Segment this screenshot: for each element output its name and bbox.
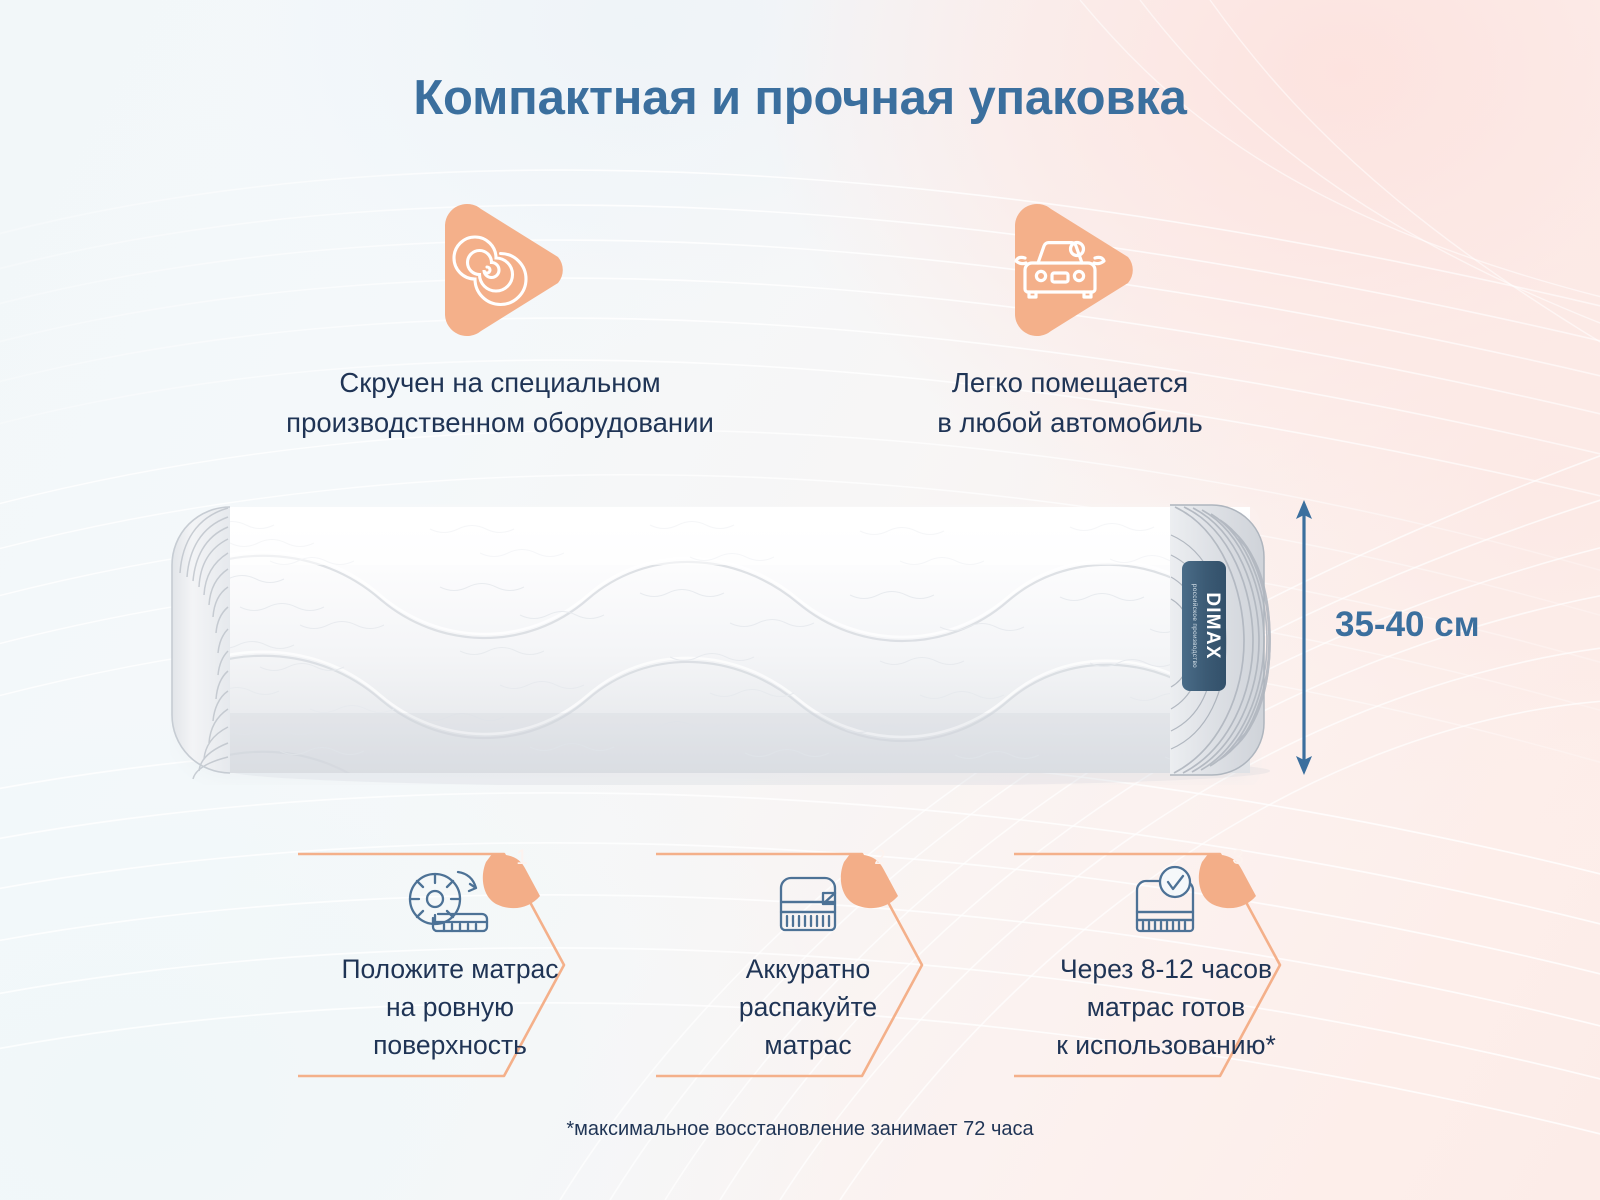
feature-label-1: Легко помещается в любой автомобиль (860, 363, 1280, 443)
feature-triangle-0 (230, 195, 770, 345)
rolled-mattress-unroll-icon (404, 862, 496, 942)
footnote: *максимальное восстановление занимает 72… (0, 1118, 1600, 1141)
dimension-indicator: 35-40 см (1290, 495, 1520, 780)
brand-tag-subtitle: российское производство (1191, 584, 1199, 668)
step-card-3: 3 Через 8-12 часов матрас готов к исполь… (1012, 840, 1384, 1090)
mattress-unwrap-icon (765, 862, 851, 942)
step-text-3: Через 8-12 часов матрас готов к использо… (1012, 950, 1320, 1064)
mattress-check-icon (1123, 862, 1209, 942)
step-icon-3 (1012, 862, 1320, 947)
brand-tag: DIMAX российское производство (1182, 561, 1226, 691)
page-title: Компактная и прочная упаковка (0, 70, 1600, 126)
mattress-roll-svg: DIMAX российское производство (170, 495, 1300, 785)
step-icon-1 (296, 862, 604, 947)
rolled-mattress-image: DIMAX российское производство (170, 495, 1300, 785)
dimension-label: 35-40 см (1335, 605, 1480, 645)
feature-triangle-1 (860, 195, 1280, 345)
step-text-2: Аккуратно распакуйте матрас (654, 950, 962, 1064)
step-text-1: Положите матрас на ровную поверхность (296, 950, 604, 1064)
step-icon-2 (654, 862, 962, 947)
feature-block-car: Легко помещается в любой автомобиль (860, 195, 1280, 443)
steps-row: 1 Положите матрас на ровную поверхность (0, 840, 1600, 1090)
feature-label-0: Скручен на специальном производственном … (230, 363, 770, 443)
spiral-roll-icon (425, 199, 575, 341)
feature-block-twisted: Скручен на специальном производственном … (230, 195, 770, 443)
car-front-icon (995, 199, 1145, 341)
step-card-2: 2 Аккуратно распакуйте матрас (654, 840, 1026, 1090)
brand-tag-text: DIMAX (1202, 592, 1223, 659)
step-card-1: 1 Положите матрас на ровную поверхность (296, 840, 668, 1090)
